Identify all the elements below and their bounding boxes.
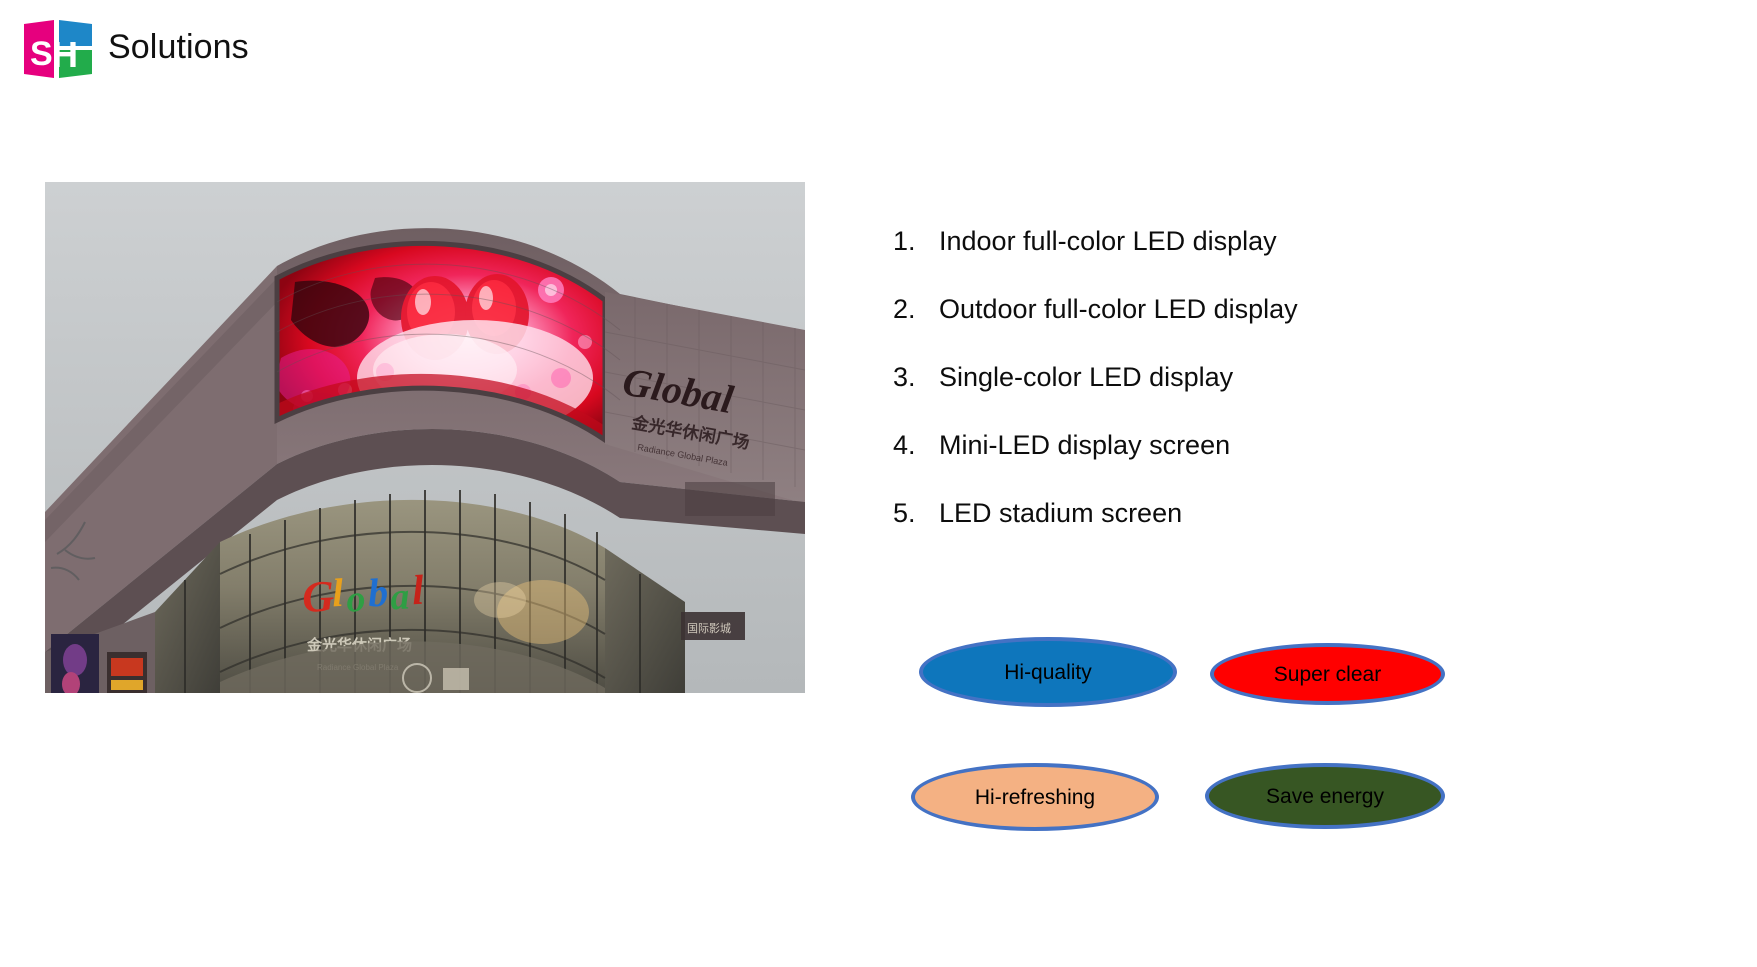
list-item-number: 4. <box>893 432 939 459</box>
svg-text:H: H <box>52 34 78 75</box>
badge-hi-quality[interactable]: Hi-quality <box>919 637 1177 707</box>
list-item-label: LED stadium screen <box>939 500 1533 527</box>
sh-logo-icon: S H <box>22 18 94 80</box>
list-item-number: 3. <box>893 364 939 391</box>
list-item-label: Outdoor full-color LED display <box>939 296 1533 323</box>
list-item-number: 5. <box>893 500 939 527</box>
list-item-number: 1. <box>893 228 939 255</box>
photo-canvas: Global 金光华休闲广场 Radiance Global Plaza <box>45 182 805 693</box>
list-item: 4. Mini-LED display screen <box>893 432 1533 459</box>
page-title: Solutions <box>108 30 249 68</box>
badge-hi-refreshing[interactable]: Hi-refreshing <box>911 763 1159 831</box>
list-item-label: Single-color LED display <box>939 364 1533 391</box>
slide-root: S H Solutions <box>0 0 1757 967</box>
list-item-label: Mini-LED display screen <box>939 432 1533 459</box>
svg-text:o: o <box>345 578 366 621</box>
led-building-photo: Global 金光华休闲广场 Radiance Global Plaza <box>45 182 805 693</box>
feature-badges: Hi-quality Super clear Hi-refreshing Sav… <box>905 635 1465 855</box>
svg-text:a: a <box>389 575 410 618</box>
list-item: 5. LED stadium screen <box>893 500 1533 527</box>
list-item-label: Indoor full-color LED display <box>939 228 1533 255</box>
svg-text:b: b <box>367 570 389 616</box>
svg-text:S: S <box>30 35 53 73</box>
brand-header: S H Solutions <box>22 18 249 80</box>
badge-save-energy[interactable]: Save energy <box>1205 763 1445 829</box>
list-item: 3. Single-color LED display <box>893 364 1533 391</box>
svg-text:G: G <box>301 571 336 622</box>
badge-super-clear[interactable]: Super clear <box>1210 643 1445 705</box>
list-item: 2. Outdoor full-color LED display <box>893 296 1533 323</box>
svg-text:国际影城: 国际影城 <box>687 622 731 635</box>
list-item-number: 2. <box>893 296 939 323</box>
list-item: 1. Indoor full-color LED display <box>893 228 1533 255</box>
solutions-list: 1. Indoor full-color LED display 2. Outd… <box>893 228 1533 527</box>
